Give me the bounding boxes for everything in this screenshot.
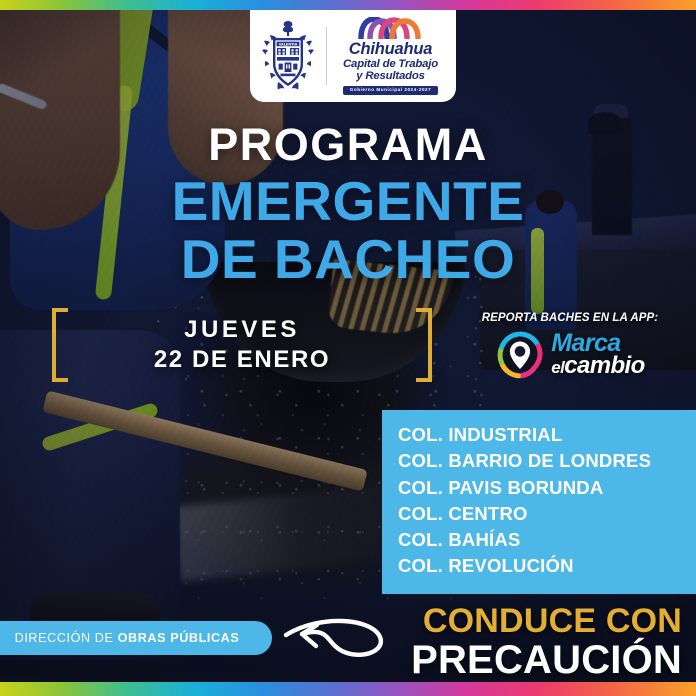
colonias-panel: COL. INDUSTRIAL COL. BARRIO DE LONDRES C…	[382, 410, 696, 594]
chihuahua-arcs-icon	[358, 17, 424, 39]
app-logo[interactable]: Marca elcambio	[452, 330, 688, 380]
logo-government-label: Gobierno Municipal 2024-2027	[343, 86, 439, 95]
date-full: 22 DE ENERO	[74, 345, 410, 375]
location-pin-icon	[495, 330, 545, 380]
bracket-left-decoration	[52, 308, 68, 382]
colonia-item: COL. REVOLUCIÓN	[398, 553, 696, 579]
app-callout: REPORTA BACHES EN LA APP: Marca elcambio	[452, 312, 688, 380]
logo-tagline-2: y Resultados	[356, 71, 425, 82]
curved-arrow-icon	[268, 604, 398, 674]
colonia-item: COL. INDUSTRIAL	[398, 422, 696, 448]
warning-line-2: PRECAUCIÓN	[411, 640, 682, 680]
colonia-item: COL. PAVIS BORUNDA	[398, 475, 696, 501]
colonia-item: COL. CENTRO	[398, 501, 696, 527]
logo-city-name: Chihuahua	[349, 41, 432, 58]
warning-line-1: CONDUCE CON	[411, 604, 682, 638]
department-name: OBRAS PÚBLICAS	[118, 631, 240, 645]
department-label: DIRECCIÓN DE OBRAS PÚBLICAS	[15, 631, 240, 645]
heading-line-emergente: EMERGENTE	[0, 173, 696, 229]
colonia-item: COL. BARRIO DE LONDRES	[398, 448, 696, 474]
app-callout-label: REPORTA BACHES EN LA APP:	[452, 312, 688, 324]
app-brand-words: Marca elcambio	[551, 332, 644, 377]
heading-line-programa: PROGRAMA	[0, 122, 696, 167]
heading-line-bacheo: DE BACHEO	[0, 231, 696, 287]
poster-canvas: VALENTIA Chihuahua Capital de Trabajo y …	[0, 0, 696, 696]
app-brand-cambio-word: cambio	[564, 352, 644, 379]
date-weekday: JUEVES	[74, 315, 410, 345]
colonia-item: COL. BAHÍAS	[398, 527, 696, 553]
chihuahua-coat-of-arms-icon: VALENTIA	[256, 19, 320, 93]
safety-warning: CONDUCE CON PRECAUCIÓN	[411, 604, 682, 680]
logo-divider	[326, 27, 327, 85]
logo-wordmark: Chihuahua Capital de Trabajo y Resultado…	[333, 17, 448, 94]
logo-tagline-1: Capital de Trabajo	[343, 59, 438, 70]
poster-heading: PROGRAMA EMERGENTE DE BACHEO	[0, 122, 696, 287]
event-date-block: JUEVES 22 DE ENERO	[52, 305, 432, 385]
city-logo-card: VALENTIA Chihuahua Capital de Trabajo y …	[250, 10, 456, 102]
svg-text:VALENTIA: VALENTIA	[279, 42, 298, 46]
rainbow-stripe-bottom	[0, 682, 696, 696]
app-brand-cambio: elcambio	[551, 355, 644, 377]
department-badge: DIRECCIÓN DE OBRAS PÚBLICAS	[0, 621, 272, 655]
department-prefix: DIRECCIÓN DE	[15, 631, 118, 645]
event-date-text: JUEVES 22 DE ENERO	[68, 315, 416, 375]
app-brand-el: el	[551, 358, 564, 377]
rainbow-stripe-top	[0, 0, 696, 10]
bracket-right-decoration	[416, 308, 432, 382]
